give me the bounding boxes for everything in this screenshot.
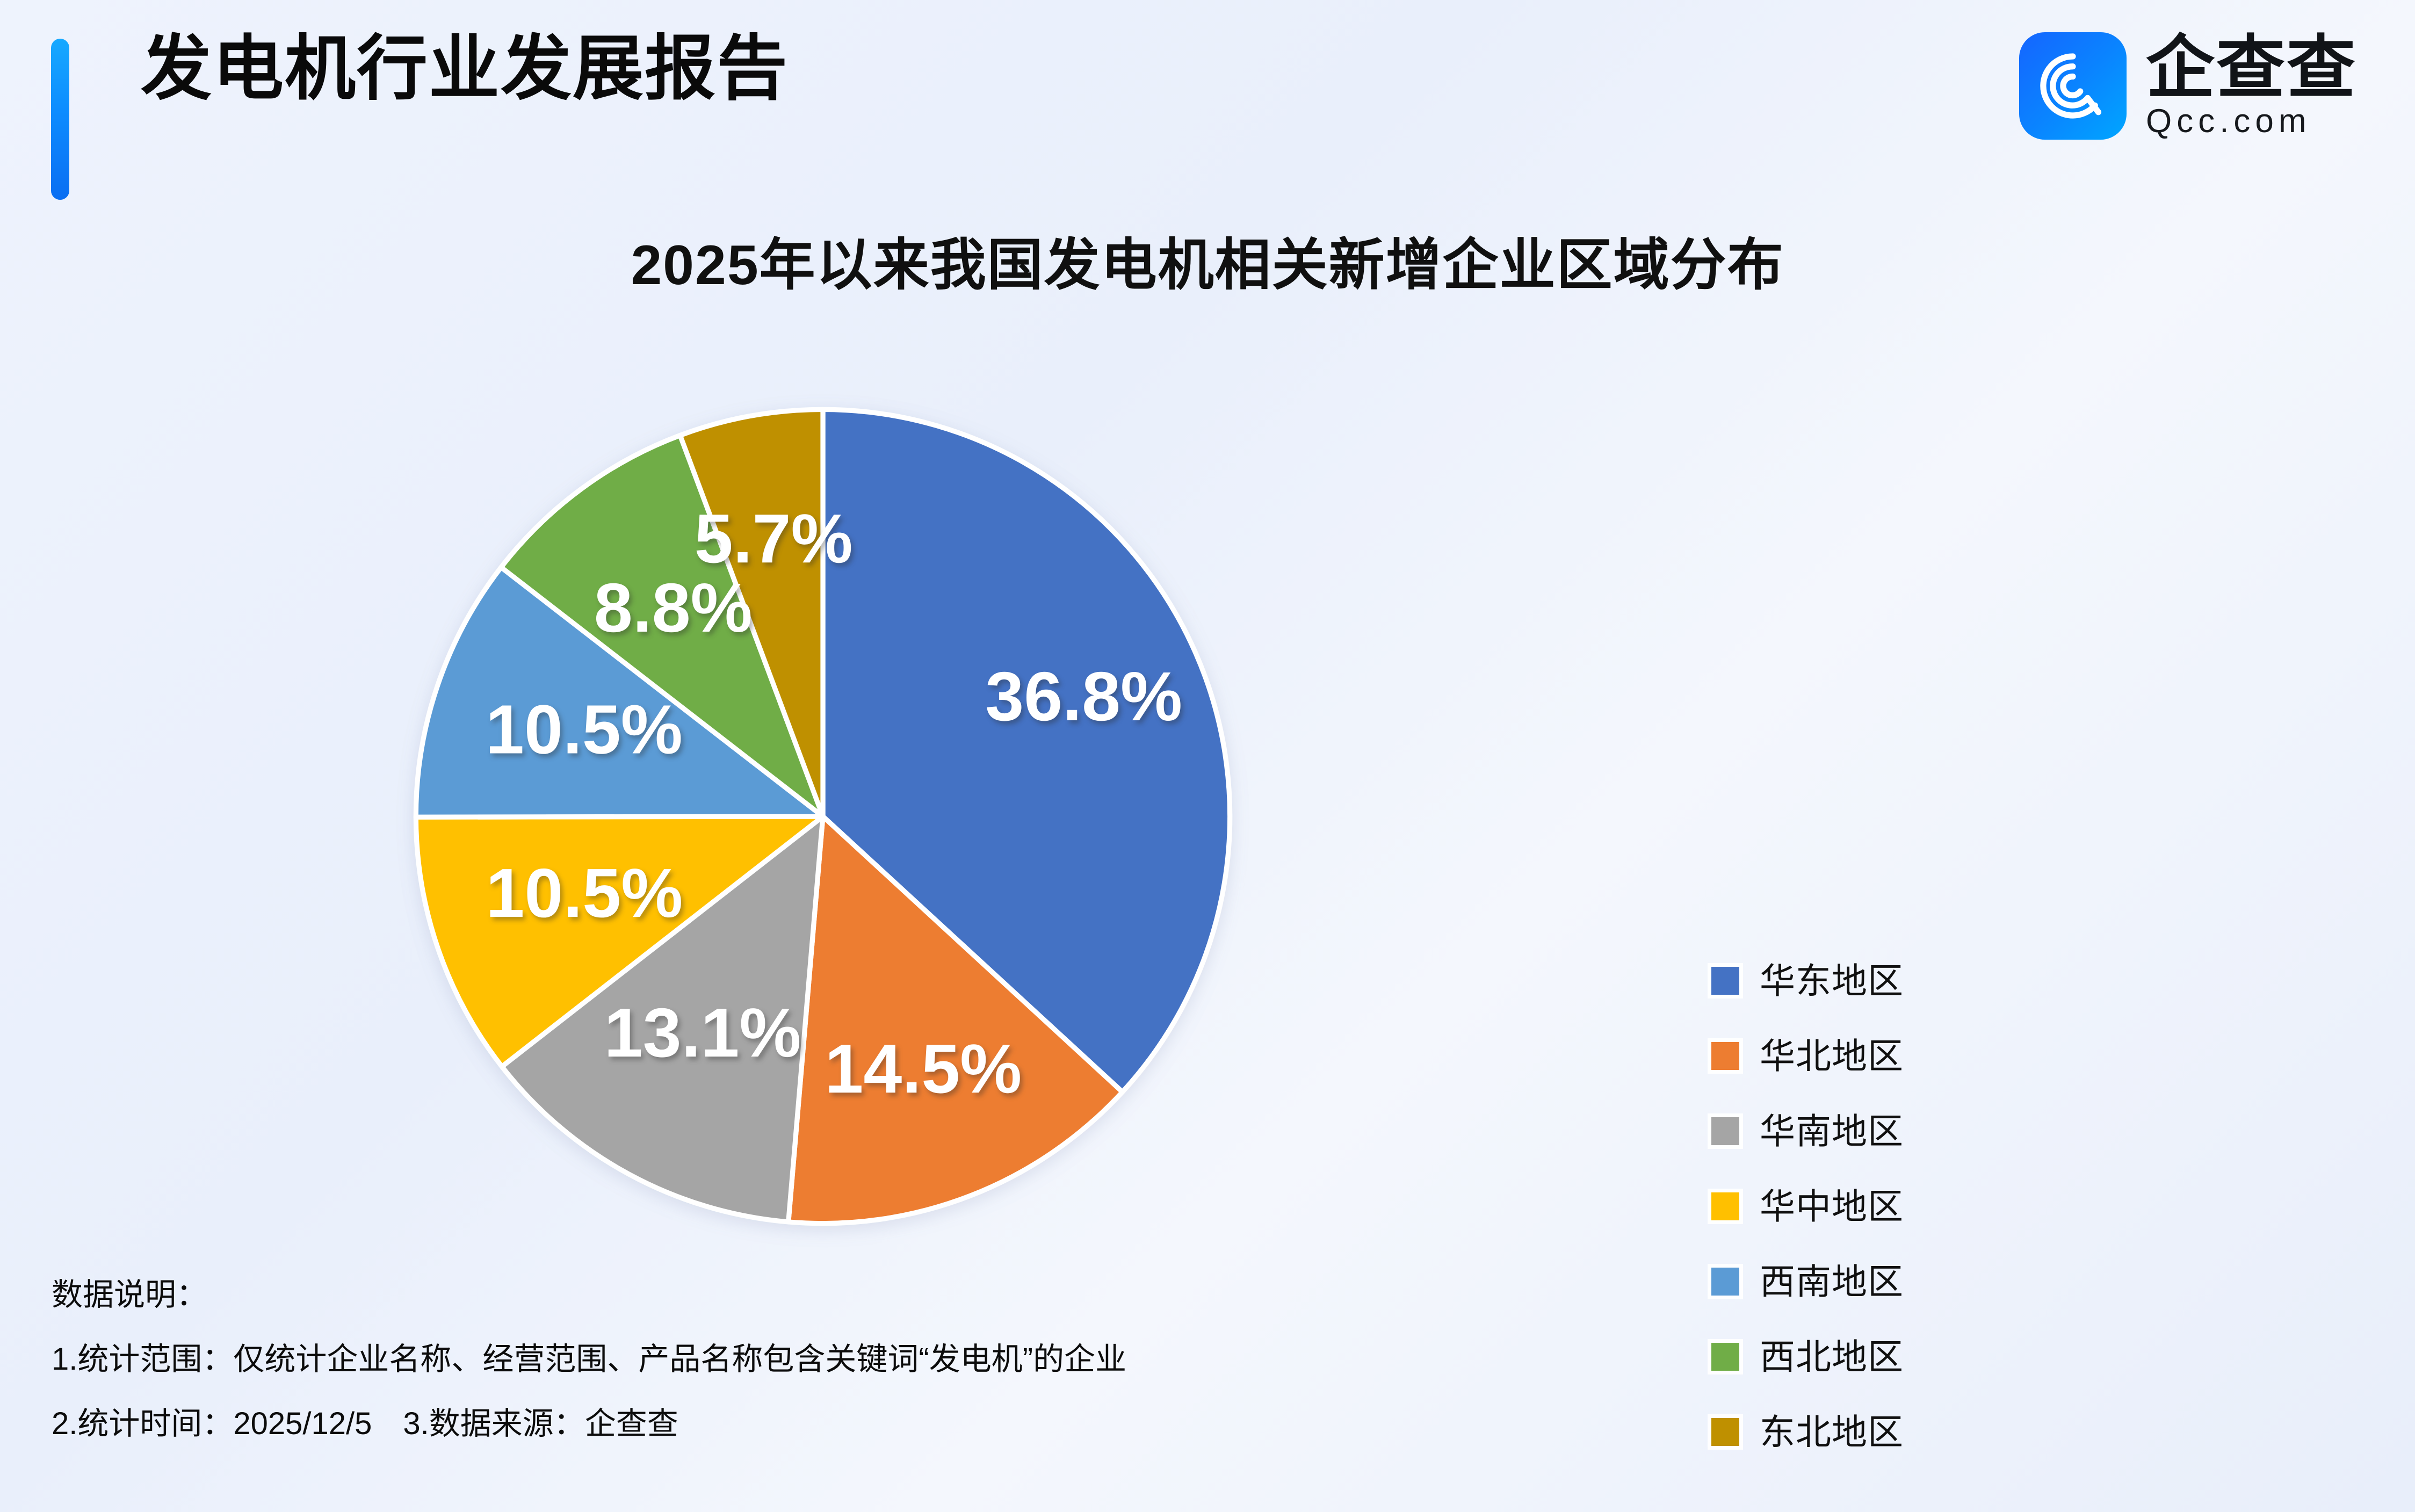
legend-color-swatch (1711, 1042, 1739, 1070)
legend-item-label: 华南地区 (1760, 1113, 1904, 1149)
legend-item[interactable]: 华中地区 (1711, 1169, 2044, 1244)
pie-slice-label: 10.5% (486, 855, 683, 932)
brand-domain: Qcc.com (2146, 105, 2357, 138)
chart-area: 36.8%14.5%13.1%10.5%10.5%8.8%5.7% 华东地区华北… (0, 333, 2415, 1246)
legend-item-label: 华北地区 (1760, 1038, 1904, 1074)
data-notes: 数据说明： 1.统计范围：仅统计企业名称、经营范围、产品名称包含关键词“发电机”… (52, 1279, 1878, 1439)
page-title: 发电机行业发展报告 (141, 33, 789, 104)
pie-slice-label: 10.5% (486, 691, 683, 769)
legend-item[interactable]: 华南地区 (1711, 1094, 2044, 1169)
notes-heading: 数据说明： (52, 1279, 1878, 1311)
qcc-spiral-q-icon (2019, 32, 2127, 140)
notes-data-source: 3.数据来源：企查查 (403, 1406, 678, 1441)
brand-name-cn: 企查查 (2146, 34, 2357, 103)
legend-item[interactable]: 华东地区 (1711, 943, 2044, 1018)
legend-color-swatch (1711, 1117, 1739, 1145)
header-accent-bar (51, 39, 69, 200)
legend-item-label: 华中地区 (1760, 1189, 1904, 1224)
brand-logo[interactable]: 企查查 Qcc.com (2019, 32, 2357, 140)
chart-title: 2025年以来我国发电机相关新增企业区域分布 (0, 219, 2415, 300)
legend-item[interactable]: 华北地区 (1711, 1018, 2044, 1094)
pie-chart[interactable]: 36.8%14.5%13.1%10.5%10.5%8.8%5.7% (409, 403, 1237, 1230)
notes-stat-time: 2.统计时间：2025/12/5 (52, 1406, 372, 1441)
pie-slice-label: 8.8% (594, 569, 753, 647)
legend-color-swatch (1711, 967, 1739, 995)
brand-wordmark: 企查查 Qcc.com (2146, 34, 2357, 138)
legend-color-swatch (1711, 1192, 1739, 1220)
page-header: 发电机行业发展报告 企查查 Qcc.com (0, 0, 2415, 204)
pie-slice-label: 13.1% (604, 994, 801, 1072)
pie-slice-label: 14.5% (825, 1030, 1022, 1108)
notes-time-source-line: 2.统计时间：2025/12/53.数据来源：企查查 (52, 1408, 1878, 1439)
legend-item-label: 华东地区 (1760, 963, 1904, 999)
pie-slice-label: 36.8% (985, 658, 1182, 735)
notes-scope-line: 1.统计范围：仅统计企业名称、经营范围、产品名称包含关键词“发电机”的企业 (52, 1344, 1878, 1375)
pie-slice-label: 5.7% (695, 500, 853, 577)
